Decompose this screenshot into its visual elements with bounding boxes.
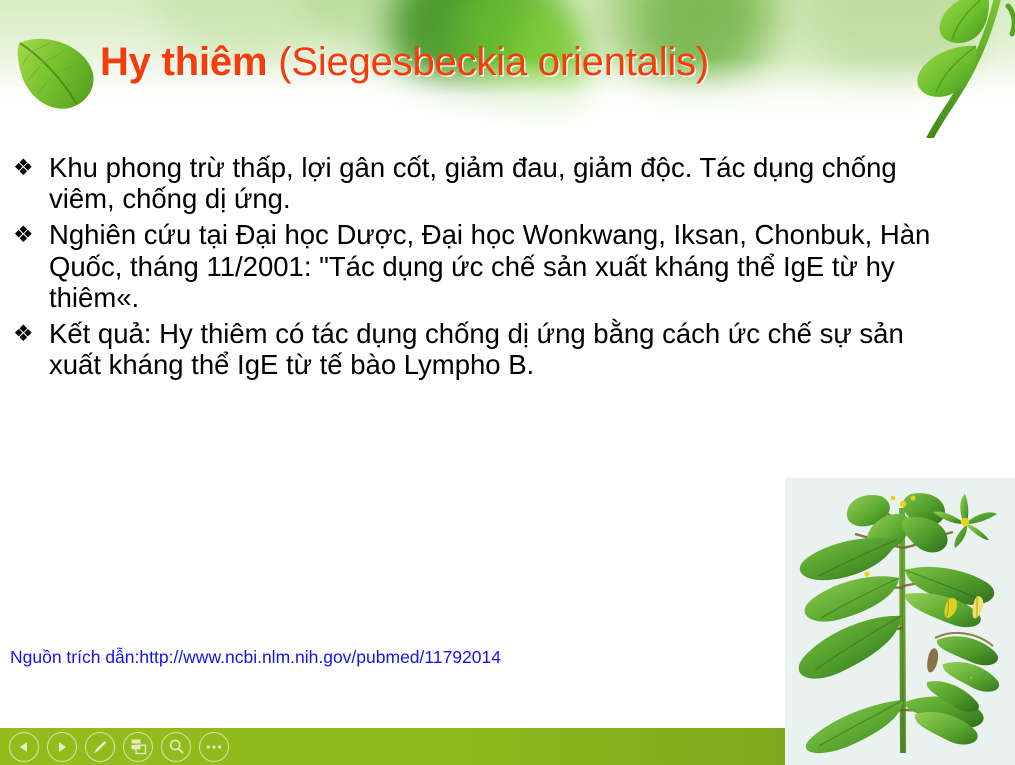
zoom-search-button[interactable] bbox=[161, 732, 191, 762]
triangle-right-icon bbox=[55, 740, 69, 754]
ellipsis-icon bbox=[205, 744, 223, 750]
list-item: ❖ Nghiên cứu tại Đại học Dược, Đại học W… bbox=[8, 219, 948, 313]
diamond-bullet-icon: ❖ bbox=[8, 219, 49, 250]
plant-illustration-image bbox=[785, 478, 1015, 765]
presentation-slide: Hy thiêm (Siegesbeckia orientalis) ❖ Khu… bbox=[0, 0, 1015, 765]
previous-slide-button[interactable] bbox=[9, 732, 39, 762]
slide-title: Hy thiêm (Siegesbeckia orientalis) bbox=[100, 41, 709, 83]
list-item-text: Nghiên cứu tại Đại học Dược, Đại học Won… bbox=[49, 219, 948, 313]
layout-icon bbox=[130, 738, 147, 755]
diamond-bullet-icon: ❖ bbox=[8, 318, 49, 349]
pen-tool-button[interactable] bbox=[85, 732, 115, 762]
title-latin-name: (Siegesbeckia orientalis) bbox=[267, 40, 709, 84]
diamond-bullet-icon: ❖ bbox=[8, 152, 49, 183]
list-item-text: Khu phong trừ thấp, lợi gân cốt, giảm đa… bbox=[49, 152, 948, 214]
list-item-text: Kết quả: Hy thiêm có tác dụng chống dị ứ… bbox=[49, 318, 948, 380]
magnifier-icon bbox=[168, 738, 185, 755]
slide-body-bullet-list: ❖ Khu phong trừ thấp, lợi gân cốt, giảm … bbox=[8, 152, 948, 385]
source-citation-label: Nguồn trích dẫn: bbox=[10, 647, 139, 667]
triangle-left-icon bbox=[17, 740, 31, 754]
title-vietnamese-name: Hy thiêm bbox=[100, 40, 267, 84]
pen-icon bbox=[91, 738, 109, 756]
source-citation-link[interactable]: http://www.ncbi.nlm.nih.gov/pubmed/11792… bbox=[139, 647, 501, 667]
leafy-stem-icon bbox=[880, 0, 1015, 138]
more-options-button[interactable] bbox=[199, 732, 229, 762]
list-item: ❖ Khu phong trừ thấp, lợi gân cốt, giảm … bbox=[8, 152, 948, 214]
slide-layout-button[interactable] bbox=[123, 732, 153, 762]
list-item: ❖ Kết quả: Hy thiêm có tác dụng chống dị… bbox=[8, 318, 948, 380]
source-citation: Nguồn trích dẫn:http://www.ncbi.nlm.nih.… bbox=[10, 647, 501, 668]
presentation-toolbar bbox=[0, 728, 785, 765]
next-slide-button[interactable] bbox=[47, 732, 77, 762]
